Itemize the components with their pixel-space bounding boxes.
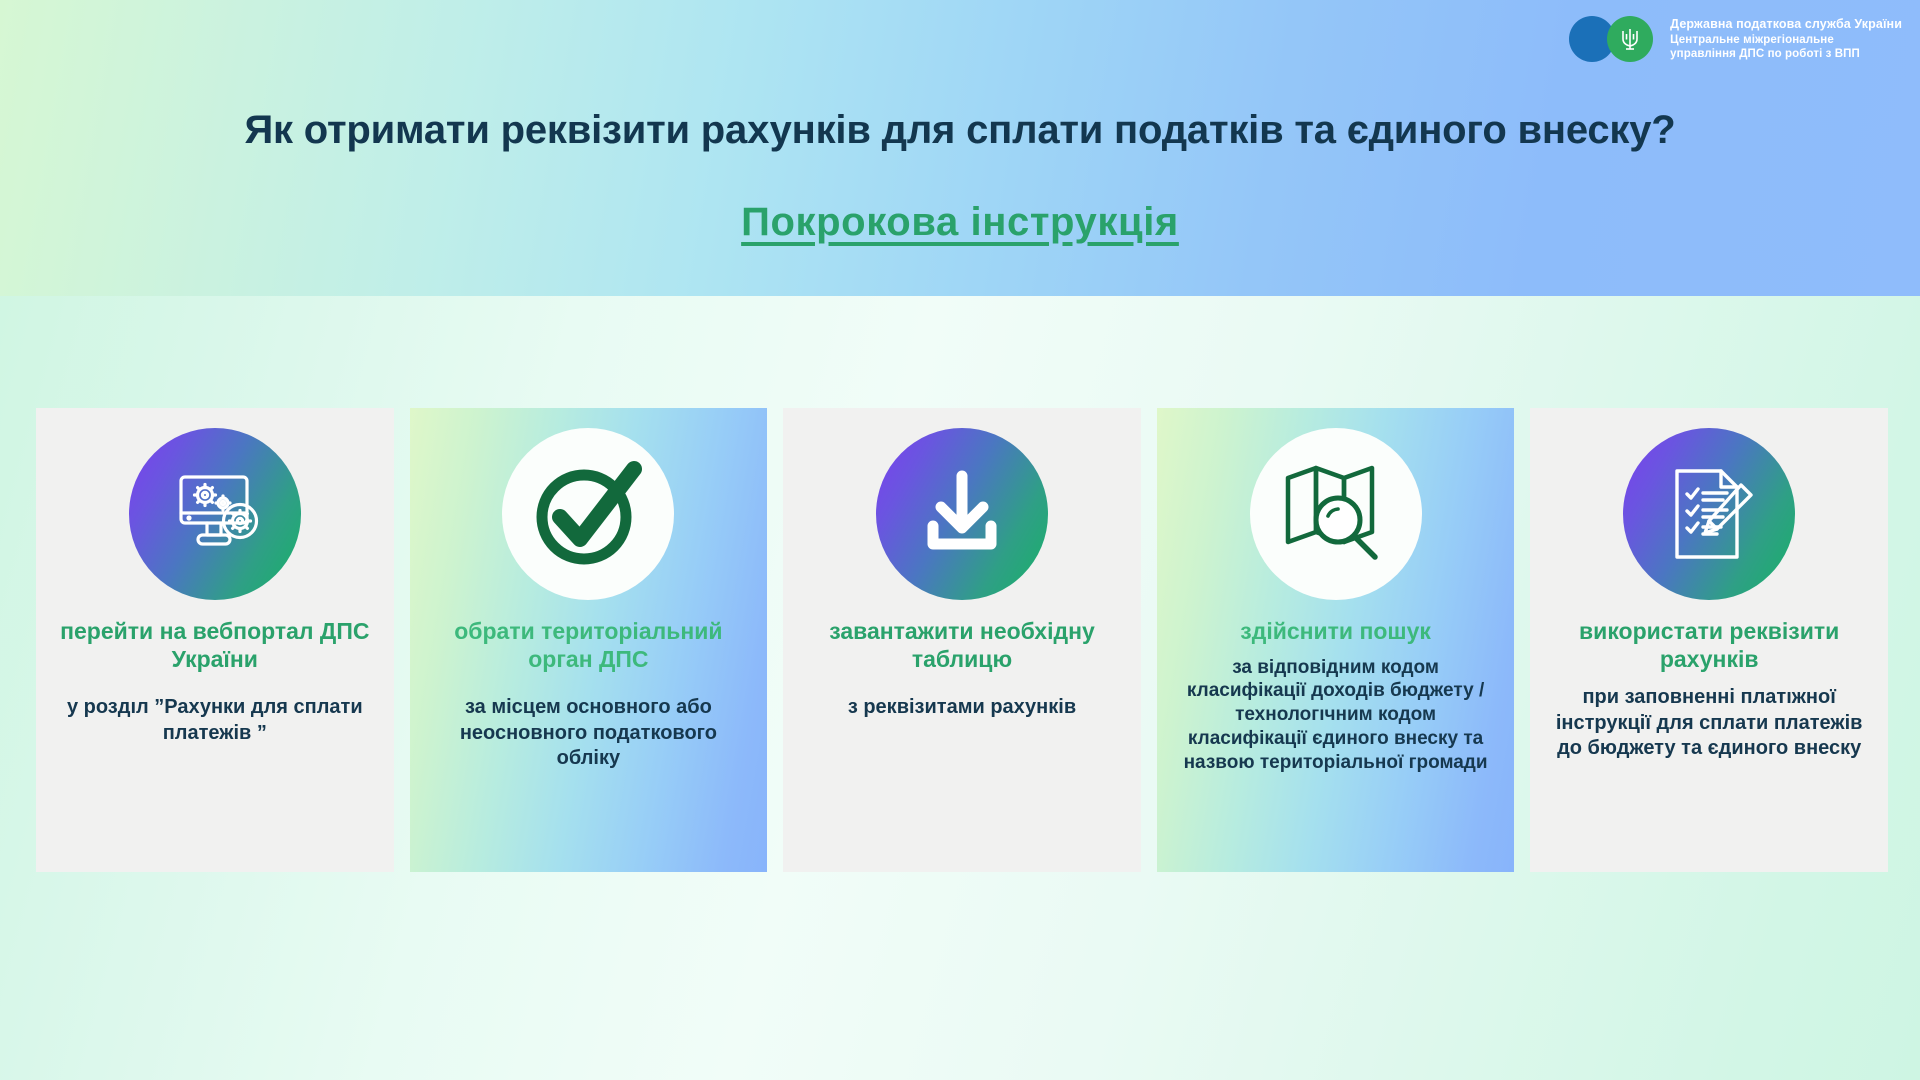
step-card-3[interactable]: завантажити необхідну таблицю з реквізит… <box>783 408 1141 872</box>
logo-line-3: управління ДПС по роботі з ВПП <box>1670 47 1902 61</box>
step-body-4: за відповідним кодом класифікації доході… <box>1169 656 1503 775</box>
dps-logo: Державна податкова служба України Центра… <box>1569 16 1902 62</box>
step-heading-1: перейти на вебпортал ДПС України <box>48 618 382 673</box>
step-body-3: з реквізитами рахунків <box>842 695 1082 720</box>
map-search-icon <box>1250 428 1422 600</box>
step-heading-3: завантажити необхідну таблицю <box>795 618 1129 673</box>
check-circle-icon <box>502 428 674 600</box>
logo-marks <box>1569 16 1661 62</box>
monitor-gears-icon <box>129 428 301 600</box>
download-icon <box>876 428 1048 600</box>
step-body-5: при заповненні платıжної інструкції для … <box>1542 685 1876 761</box>
step-card-4[interactable]: здійснити пошук за відповідним кодом кла… <box>1157 408 1515 872</box>
step-body-2: за місцем основного або неосновного пода… <box>422 695 756 771</box>
logo-line-1: Державна податкова служба України <box>1670 17 1902 32</box>
page-subtitle: Покрокова інструкція <box>0 200 1920 245</box>
steps-row: перейти на вебпортал ДПС України у роздı… <box>36 408 1888 872</box>
step-card-5[interactable]: використати реквізити рахунків при запов… <box>1530 408 1888 872</box>
document-pencil-icon <box>1623 428 1795 600</box>
step-body-1: у роздıл ”Рахунки для сплати платежів ” <box>48 695 382 746</box>
logo-line-2: Центральне міжрегіональне <box>1670 33 1902 47</box>
infographic-page: Державна податкова служба України Центра… <box>0 0 1920 1080</box>
step-heading-2: обрати територіальний орган ДПС <box>422 618 756 673</box>
page-title: Як отримати реквізити рахунків для сплат… <box>0 108 1920 153</box>
step-heading-4: здійснити пошук <box>1240 618 1431 646</box>
logo-text-block: Державна податкова служба України Центра… <box>1670 17 1902 60</box>
page-subtitle-text: Покрокова інструкція <box>741 200 1179 245</box>
step-heading-5: використати реквізити рахунків <box>1542 618 1876 673</box>
step-card-1[interactable]: перейти на вебпортал ДПС України у роздı… <box>36 408 394 872</box>
step-card-2[interactable]: обрати територіальний орган ДПС за місце… <box>410 408 768 872</box>
green-trident-icon <box>1607 16 1653 62</box>
